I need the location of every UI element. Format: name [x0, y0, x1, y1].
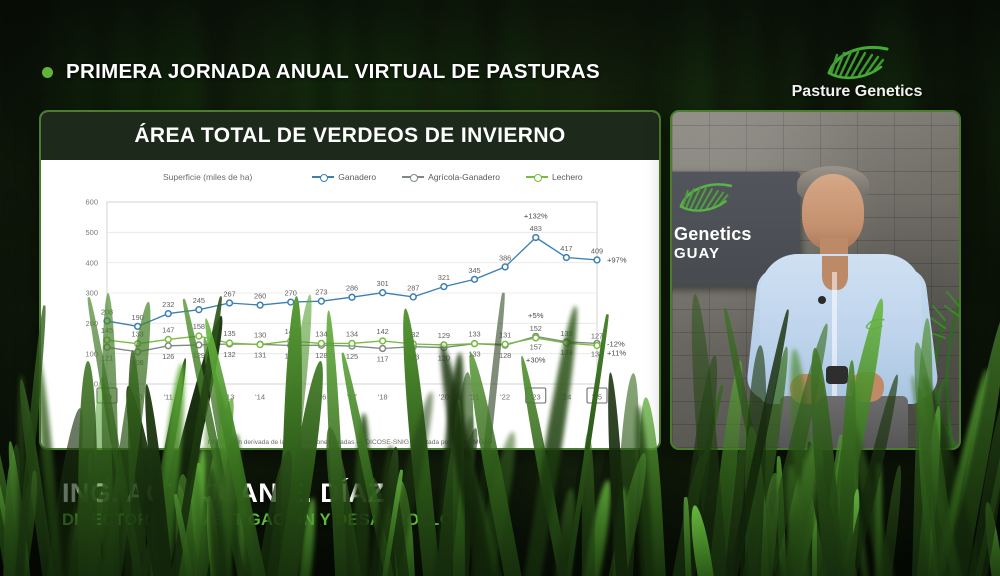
svg-text:417: 417	[560, 244, 572, 253]
svg-text:'18: '18	[378, 393, 388, 402]
svg-text:386: 386	[499, 253, 511, 262]
svg-text:'14: '14	[255, 393, 265, 402]
svg-text:129: 129	[438, 331, 450, 340]
svg-text:+11%: +11%	[607, 348, 626, 357]
svg-text:134: 134	[346, 329, 358, 338]
svg-text:126: 126	[162, 352, 174, 361]
legend-label-ganadero: Ganadero	[338, 172, 376, 182]
svg-text:345: 345	[468, 266, 480, 275]
svg-text:158: 158	[193, 322, 205, 331]
legend-marker-lechero	[526, 176, 548, 178]
svg-text:132: 132	[223, 350, 235, 359]
chart-legend: Superficie (miles de ha) Ganadero Agríco…	[51, 166, 649, 188]
legend-marker-ganadero	[312, 176, 334, 178]
svg-text:321: 321	[438, 273, 450, 282]
legend-item-agricola-ganadero: Agrícola-Ganadero	[402, 172, 500, 182]
svg-text:135: 135	[223, 329, 235, 338]
legend-label-lechero: Lechero	[552, 172, 583, 182]
svg-text:260: 260	[254, 292, 266, 301]
speaker-shirt-placket	[832, 272, 837, 404]
svg-text:128: 128	[499, 351, 511, 360]
legend-item-ganadero: Ganadero	[312, 172, 376, 182]
chart-axis-note: Superficie (miles de ha)	[163, 172, 252, 182]
svg-text:286: 286	[346, 284, 358, 293]
svg-text:131: 131	[254, 350, 266, 359]
svg-text:157: 157	[530, 342, 542, 351]
svg-text:-12%: -12%	[607, 339, 625, 348]
svg-text:500: 500	[85, 228, 98, 237]
svg-text:300: 300	[85, 289, 98, 298]
svg-text:130: 130	[254, 331, 266, 340]
svg-text:301: 301	[376, 279, 388, 288]
svg-text:147: 147	[162, 325, 174, 334]
svg-text:142: 142	[376, 327, 388, 336]
svg-text:'22: '22	[500, 393, 510, 402]
event-title: PRIMERA JORNADA ANUAL VIRTUAL DE PASTURA…	[66, 60, 600, 84]
slide-header: ÁREA TOTAL DE VERDEOS DE INVIERNO	[41, 112, 659, 160]
svg-text:400: 400	[85, 258, 98, 267]
svg-text:287: 287	[407, 283, 419, 292]
svg-text:409: 409	[591, 246, 603, 255]
svg-text:273: 273	[315, 288, 327, 297]
svg-text:+5%: +5%	[528, 311, 544, 320]
svg-text:117: 117	[377, 355, 389, 364]
svg-text:267: 267	[223, 290, 235, 299]
legend-marker-agricola-ganadero	[402, 176, 424, 178]
svg-text:232: 232	[162, 300, 174, 309]
brand-logo: Pasture Genetics	[762, 42, 952, 101]
svg-text:245: 245	[193, 296, 205, 305]
svg-text:133: 133	[468, 330, 480, 339]
brand-name: Pasture Genetics	[762, 83, 952, 101]
leaf-fan-icon	[762, 42, 952, 82]
legend-item-lechero: Lechero	[526, 172, 583, 182]
slide-title: ÁREA TOTAL DE VERDEOS DE INVIERNO	[134, 124, 565, 148]
handheld-device	[826, 366, 848, 384]
svg-text:+97%: +97%	[607, 255, 627, 264]
svg-text:+30%: +30%	[526, 355, 546, 364]
svg-text:125: 125	[346, 352, 358, 361]
legend-label-agricola-ganadero: Agrícola-Ganadero	[428, 172, 500, 182]
svg-text:152: 152	[530, 324, 542, 333]
svg-text:600: 600	[85, 198, 98, 207]
event-header: PRIMERA JORNADA ANUAL VIRTUAL DE PASTURA…	[0, 52, 600, 92]
svg-text:483: 483	[530, 224, 542, 233]
svg-text:+132%: +132%	[524, 211, 548, 220]
lapel-microphone-icon	[818, 296, 826, 304]
bullet-dot-icon	[42, 67, 53, 78]
